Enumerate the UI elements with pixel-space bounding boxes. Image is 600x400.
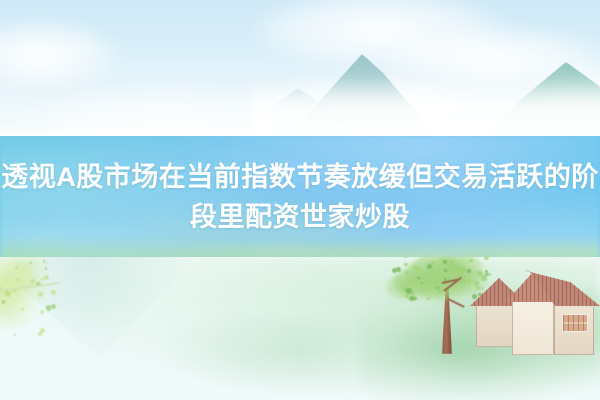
tree-leaf-speckle: [427, 297, 430, 300]
tree-leaf-speckle: [444, 269, 447, 272]
tree-leaf-speckle: [450, 260, 453, 263]
foliage-speckle: [44, 275, 49, 280]
tree-leaf-speckle: [417, 277, 419, 279]
mist-overlay: [250, 78, 600, 140]
foliage-speckle: [2, 300, 5, 303]
foliage-speckle: [15, 266, 18, 269]
page-title-line-1: 透视A股市场在当前指数节奏放缓但交易活跃的阶: [1, 157, 599, 197]
article-thumbnail-banner: ~ 透视A股市场在当前指数节奏放缓但交易活跃的阶 段里配资世家炒股: [0, 0, 600, 400]
cottage-window: [562, 314, 588, 332]
tree-leaf-speckle: [442, 275, 446, 279]
foliage-speckle: [51, 304, 56, 309]
foliage-speckle: [14, 334, 16, 336]
tree-leaf-speckle: [427, 264, 432, 269]
tree-leaf-speckle: [392, 268, 397, 273]
foliage-speckle: [40, 328, 45, 333]
foliage-speckle: [30, 279, 35, 284]
foliage-speckle: [38, 292, 43, 297]
cottage-front-wall: [512, 300, 554, 355]
page-title: 透视A股市场在当前指数节奏放缓但交易活跃的阶 段里配资世家炒股: [0, 136, 600, 257]
foliage-speckle: [40, 310, 44, 314]
tree-leaf-speckle: [405, 271, 408, 274]
foliage-speckle: [51, 290, 56, 295]
foliage-speckle: [46, 262, 48, 264]
foliage-speckle: [41, 278, 44, 281]
foliage-branch-left: [0, 252, 84, 347]
foliage-speckle: [18, 263, 20, 265]
tree-leaf-speckle: [443, 260, 447, 264]
tree-leaf-speckle: [437, 289, 442, 294]
cottage-illustration: [470, 270, 600, 365]
tree-leaf-speckle: [406, 288, 412, 294]
bird-icon: ~: [525, 268, 537, 274]
foliage-speckle: [45, 267, 47, 269]
window-shutter-bars: [563, 315, 587, 331]
tree-leaf-speckle: [404, 263, 407, 266]
foliage-speckle: [29, 262, 31, 264]
page-title-line-2: 段里配资世家炒股: [190, 197, 410, 237]
tree-leaf-speckle: [453, 266, 456, 269]
tree-leaf-speckle: [405, 294, 409, 298]
